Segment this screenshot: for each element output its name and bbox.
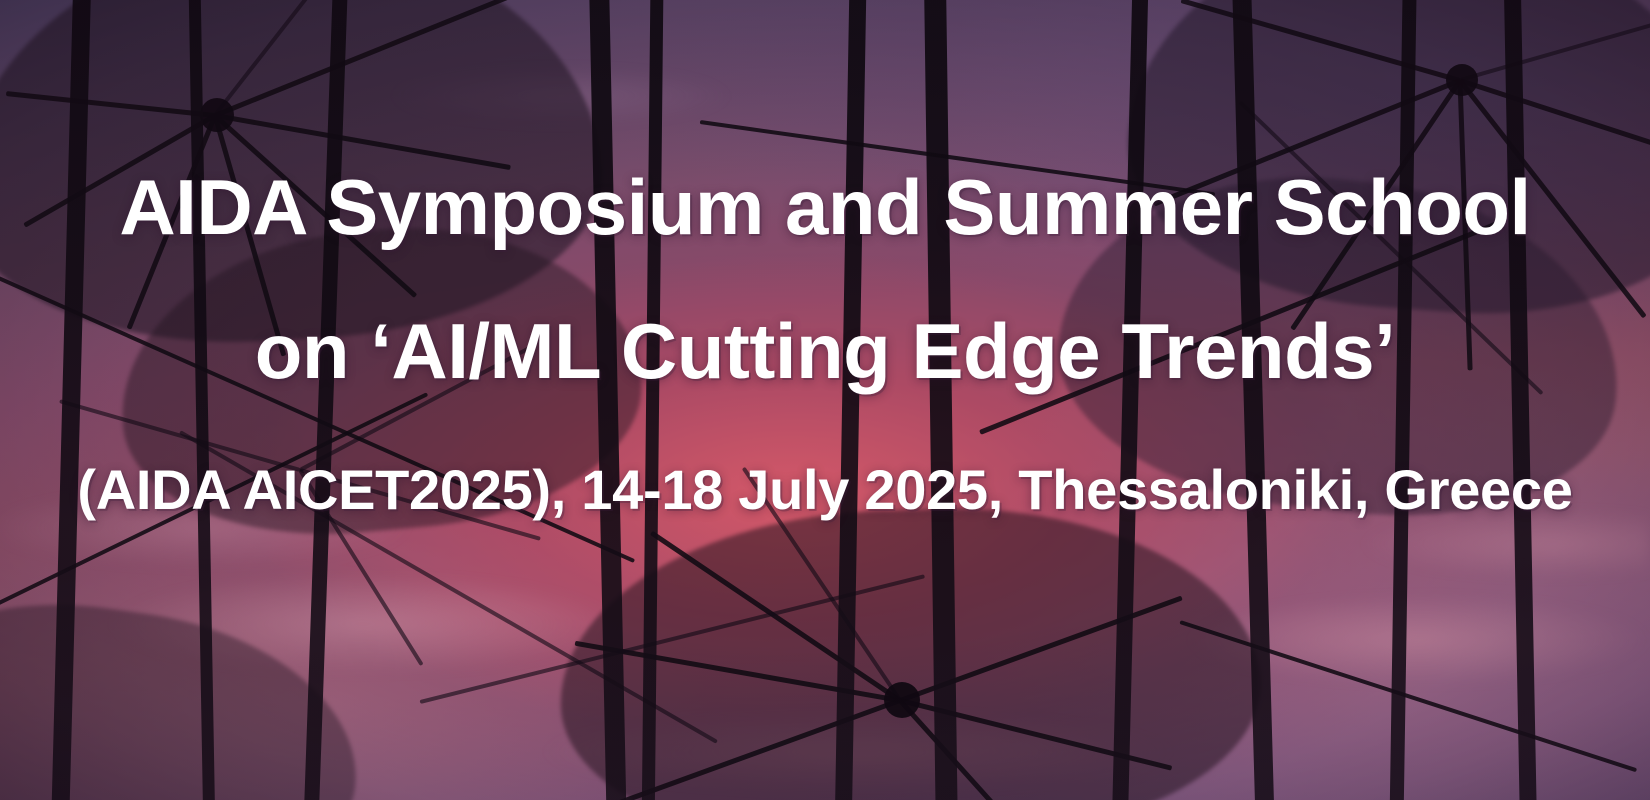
event-title-line-2: on ‘AI/ML Cutting Edge Trends’	[26, 312, 1624, 390]
banner-text-block: AIDA Symposium and Summer School on ‘AI/…	[0, 168, 1650, 518]
event-details-line: (AIDA AICET2025), 14-18 July 2025, Thess…	[26, 462, 1624, 518]
event-title-line-1: AIDA Symposium and Summer School	[26, 168, 1624, 246]
event-banner: AIDA Symposium and Summer School on ‘AI/…	[0, 0, 1650, 800]
